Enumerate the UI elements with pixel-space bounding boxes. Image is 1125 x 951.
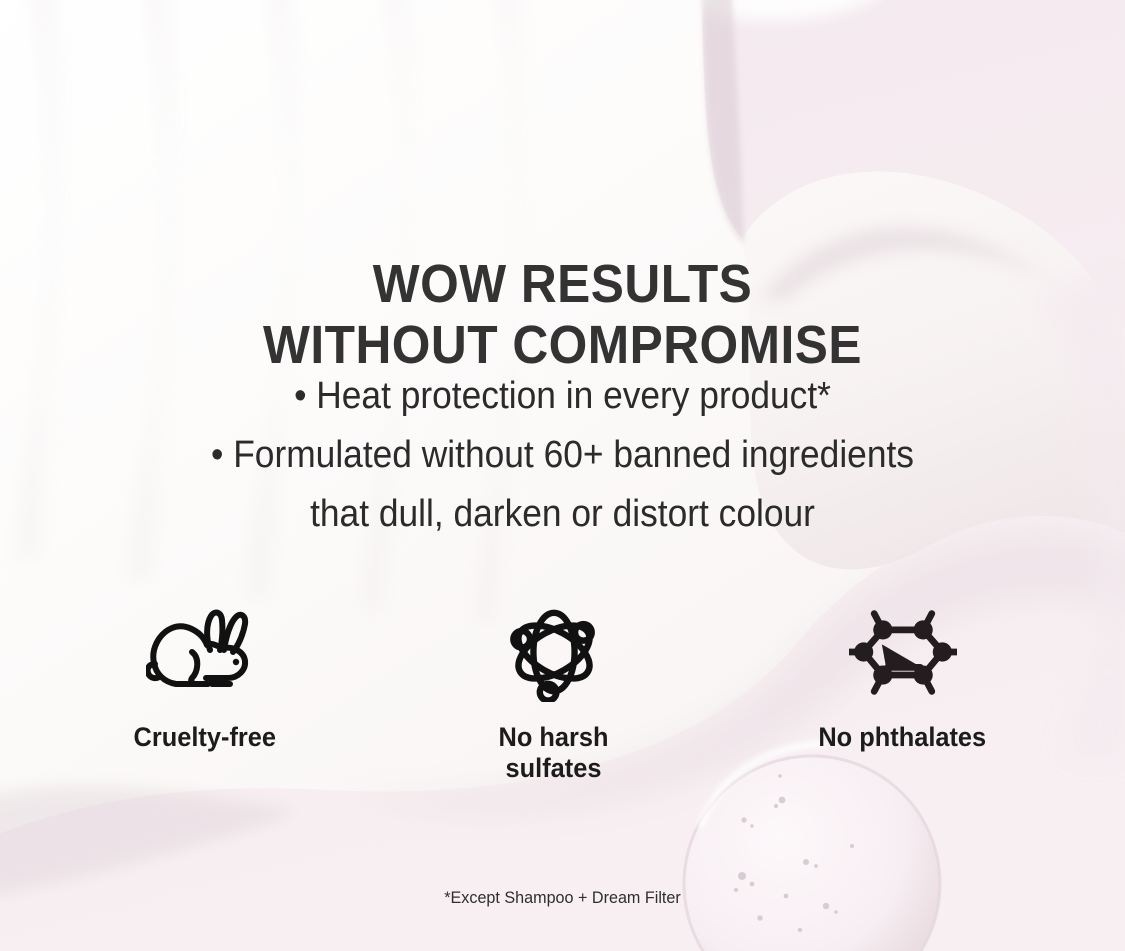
rabbit-icon: [146, 600, 264, 704]
claim-label: No phthalates: [819, 722, 987, 753]
claims-row: Cruelty-free: [0, 600, 1125, 785]
claim-no-harsh-sulfates: No harsh sulfates: [379, 600, 728, 785]
benefit-list: • Heat protection in every product* • Fo…: [39, 367, 1085, 544]
page-title: WOW RESULTS WITHOUT COMPROMISE: [45, 254, 1080, 375]
footnote: *Except Shampoo + Dream Filter: [28, 888, 1097, 908]
benefit-item-2: • Formulated without 60+ banned ingredie…: [39, 426, 1085, 485]
claim-label: No harsh sulfates: [498, 722, 608, 785]
promo-banner: WOW RESULTS WITHOUT COMPROMISE • Heat pr…: [0, 0, 1125, 951]
benefit-item-1: • Heat protection in every product*: [39, 367, 1085, 426]
claim-cruelty-free: Cruelty-free: [30, 600, 379, 753]
atom-icon: [505, 600, 603, 704]
claim-no-phthalates: No phthalates: [728, 600, 1077, 753]
benefit-item-2-continued: that dull, darken or distort colour: [39, 485, 1085, 544]
benzene-ring-icon: [849, 600, 957, 704]
claim-label: Cruelty-free: [133, 722, 275, 753]
